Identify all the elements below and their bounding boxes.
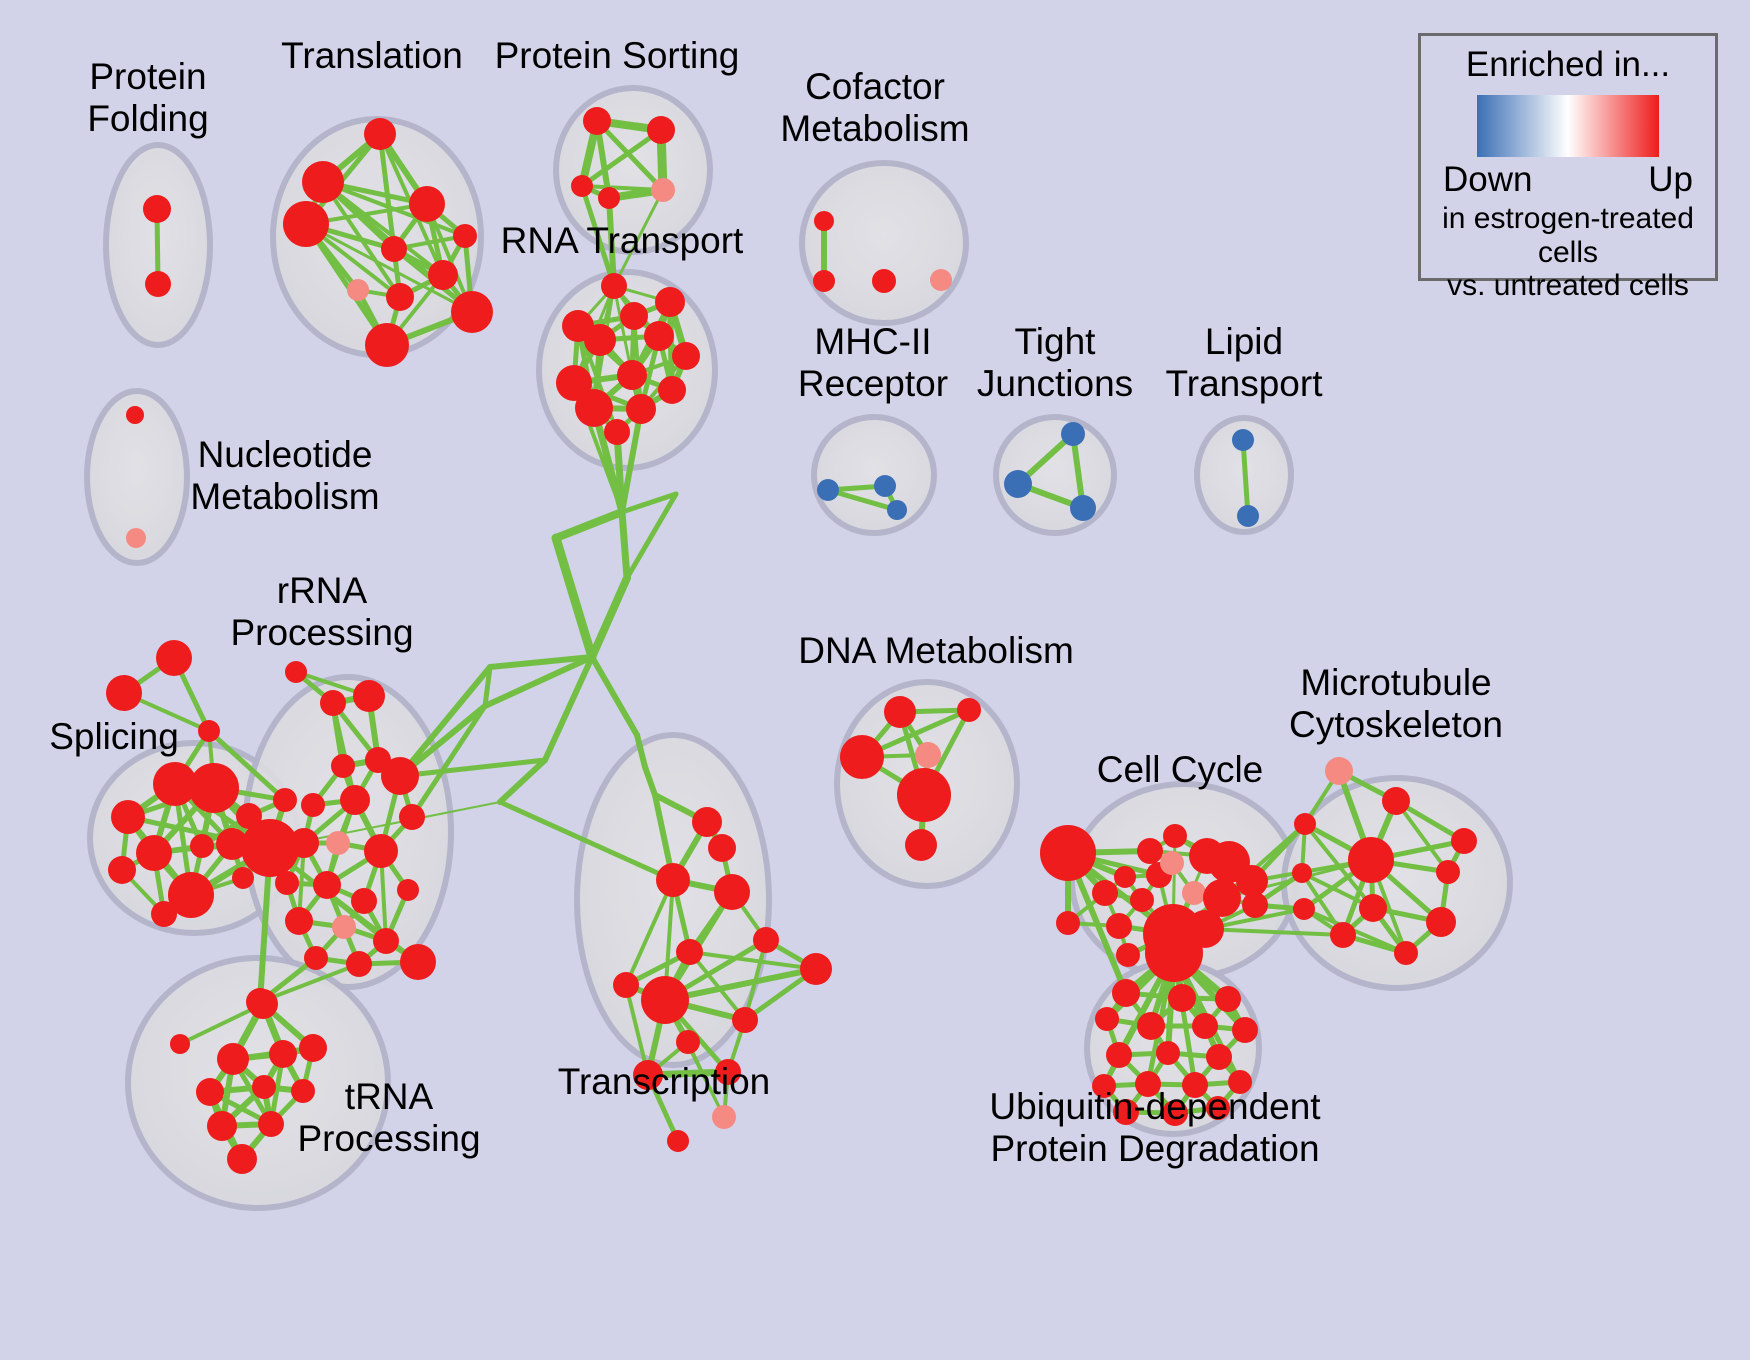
node-splicing-10[interactable] — [108, 856, 136, 884]
node-rrna-processing-20[interactable] — [346, 951, 372, 977]
cluster-label-nucleotide-metabolism: Nucleotide — [198, 434, 373, 475]
node-translation-1[interactable] — [302, 161, 344, 203]
node-translation-9[interactable] — [451, 291, 493, 333]
legend-sublabel-line2: vs. untreated cells — [1421, 269, 1715, 303]
legend-high-label: Up — [1648, 160, 1693, 200]
node-transcription-3[interactable] — [714, 874, 750, 910]
node-ubiquitin-degradation-9[interactable] — [1156, 1041, 1180, 1065]
legend-sublabel: in estrogen-treated cells vs. untreated … — [1421, 202, 1715, 303]
node-translation-4[interactable] — [453, 224, 477, 248]
node-transcription-6[interactable] — [800, 953, 832, 985]
cluster-label-microtubule-cytoskeleton: Microtubule — [1300, 662, 1491, 703]
node-rrna-processing-9[interactable] — [289, 828, 319, 858]
node-rna-transport-5[interactable] — [644, 321, 674, 351]
node-trna-processing-7[interactable] — [291, 1079, 315, 1103]
legend-color-gradient — [1477, 95, 1659, 157]
node-rrna-processing-0[interactable] — [285, 661, 307, 683]
cluster-label-mhc-ii-receptor: Receptor — [798, 363, 948, 404]
inter-cluster-edge — [592, 578, 627, 657]
node-splicing-11[interactable] — [151, 901, 177, 927]
node-splicing-0[interactable] — [156, 640, 192, 676]
node-splicing-14[interactable] — [273, 788, 297, 812]
inter-cluster-edge — [556, 512, 622, 538]
node-cell-cycle-7[interactable] — [1160, 851, 1184, 875]
node-transcription-4[interactable] — [753, 927, 779, 953]
node-trna-processing-4[interactable] — [299, 1034, 327, 1062]
node-microtubule-cytoskeleton-8[interactable] — [1293, 898, 1315, 920]
node-transcription-8[interactable] — [613, 972, 639, 998]
node-microtubule-cytoskeleton-10[interactable] — [1426, 907, 1456, 937]
node-translation-5[interactable] — [381, 236, 407, 262]
node-transcription-7[interactable] — [676, 940, 700, 964]
node-dna-metabolism-5[interactable] — [905, 829, 937, 861]
node-splicing-9[interactable] — [190, 834, 214, 858]
node-rna-transport-9[interactable] — [658, 376, 686, 404]
node-translation-8[interactable] — [386, 283, 414, 311]
node-dna-metabolism-4[interactable] — [897, 768, 951, 822]
node-protein-sorting-1[interactable] — [647, 116, 675, 144]
node-protein-folding-1[interactable] — [145, 271, 171, 297]
node-microtubule-cytoskeleton-7[interactable] — [1451, 828, 1477, 854]
node-cell-cycle-2[interactable] — [1040, 825, 1096, 881]
node-ubiquitin-degradation-2[interactable] — [1168, 984, 1196, 1012]
node-rrna-processing-19[interactable] — [304, 946, 328, 970]
node-rrna-processing-4[interactable] — [331, 754, 355, 778]
node-microtubule-cytoskeleton-11[interactable] — [1394, 941, 1418, 965]
node-rna-transport-6[interactable] — [672, 342, 700, 370]
node-cell-cycle-13[interactable] — [1242, 892, 1268, 918]
node-dna-metabolism-2[interactable] — [840, 735, 884, 779]
node-translation-0[interactable] — [364, 118, 396, 150]
node-cell-cycle-15[interactable] — [1106, 913, 1132, 939]
node-microtubule-cytoskeleton-3[interactable] — [1348, 837, 1394, 883]
node-rrna-processing-5[interactable] — [381, 757, 419, 795]
inter-cluster-edge — [622, 512, 627, 578]
node-ubiquitin-degradation-5[interactable] — [1137, 1012, 1165, 1040]
cluster-label-mhc-ii-receptor: MHC-II — [814, 321, 931, 362]
node-splicing-4[interactable] — [189, 763, 239, 813]
node-splicing-7[interactable] — [136, 835, 172, 871]
cluster-label-dna-metabolism: DNA Metabolism — [798, 630, 1074, 671]
cluster-label-lipid-transport: Lipid — [1205, 321, 1283, 362]
cluster-label-rna-transport: RNA Transport — [501, 220, 744, 261]
node-mhc-ii-receptor-0[interactable] — [874, 475, 896, 497]
node-cell-cycle-5[interactable] — [1114, 866, 1136, 888]
legend-panel: Enriched in... Down Up in estrogen-treat… — [1418, 33, 1718, 281]
node-translation-7[interactable] — [347, 279, 369, 301]
cluster-label-protein-folding: Folding — [87, 98, 208, 139]
node-ubiquitin-degradation-8[interactable] — [1106, 1042, 1132, 1068]
node-dna-metabolism-0[interactable] — [884, 696, 916, 728]
cluster-label-trna-processing: Processing — [297, 1118, 480, 1159]
cluster-ellipse-mhc-ii-receptor — [814, 417, 934, 533]
legend-sublabel-line1: in estrogen-treated cells — [1421, 202, 1715, 269]
node-rna-transport-0[interactable] — [601, 273, 627, 299]
node-rna-transport-8[interactable] — [617, 360, 647, 390]
node-rna-transport-11[interactable] — [626, 394, 656, 424]
node-microtubule-cytoskeleton-1[interactable] — [1382, 787, 1410, 815]
node-transcription-2[interactable] — [656, 863, 690, 897]
cluster-label-cofactor-metabolism: Cofactor — [805, 66, 945, 107]
cluster-label-translation: Translation — [281, 35, 463, 76]
node-mhc-ii-receptor-1[interactable] — [817, 479, 839, 501]
node-rrna-processing-11[interactable] — [364, 834, 398, 868]
node-microtubule-cytoskeleton-9[interactable] — [1330, 922, 1356, 948]
node-cell-cycle-9[interactable] — [1092, 880, 1118, 906]
node-splicing-5[interactable] — [111, 800, 145, 834]
node-translation-3[interactable] — [283, 201, 329, 247]
node-trna-processing-3[interactable] — [269, 1040, 297, 1068]
cluster-label-ubiquitin-degradation: Ubiquitin-dependent — [989, 1086, 1321, 1127]
node-cofactor-metabolism-0[interactable] — [814, 211, 834, 231]
cluster-label-microtubule-cytoskeleton: Cytoskeleton — [1289, 704, 1503, 745]
node-rrna-processing-6[interactable] — [301, 793, 325, 817]
cluster-label-splicing: Splicing — [49, 716, 179, 757]
node-cell-cycle-0[interactable] — [1137, 838, 1163, 864]
network-figure: ProteinFoldingNucleotideMetabolismTransl… — [0, 0, 1750, 1360]
node-rrna-processing-8[interactable] — [399, 804, 425, 830]
node-rrna-processing-17[interactable] — [332, 915, 356, 939]
node-rrna-processing-13[interactable] — [313, 871, 341, 899]
node-rna-transport-10[interactable] — [575, 389, 613, 427]
node-rrna-processing-2[interactable] — [320, 690, 346, 716]
node-dna-metabolism-3[interactable] — [915, 742, 941, 768]
node-rrna-processing-21[interactable] — [400, 944, 436, 980]
node-rrna-processing-16[interactable] — [285, 907, 313, 935]
node-trna-processing-2[interactable] — [217, 1043, 249, 1075]
node-microtubule-cytoskeleton-2[interactable] — [1294, 813, 1316, 835]
node-tight-junctions-1[interactable] — [1004, 470, 1032, 498]
node-nucleotide-metabolism-1[interactable] — [126, 528, 146, 548]
node-trna-processing-6[interactable] — [252, 1075, 276, 1099]
node-trna-processing-1[interactable] — [170, 1034, 190, 1054]
node-cofactor-metabolism-2[interactable] — [872, 269, 896, 293]
node-ubiquitin-degradation-4[interactable] — [1095, 1007, 1119, 1031]
node-protein-folding-0[interactable] — [143, 195, 171, 223]
node-protein-sorting-3[interactable] — [598, 187, 620, 209]
node-cell-cycle-14[interactable] — [1056, 911, 1080, 935]
node-nucleotide-metabolism-0[interactable] — [126, 406, 144, 424]
node-translation-10[interactable] — [365, 323, 409, 367]
cluster-label-nucleotide-metabolism: Metabolism — [190, 476, 379, 517]
cluster-label-trna-processing: tRNA — [345, 1076, 434, 1117]
node-cell-cycle-11[interactable] — [1182, 881, 1206, 905]
node-rrna-processing-18[interactable] — [373, 928, 399, 954]
node-cell-cycle-18[interactable] — [1116, 943, 1140, 967]
node-transcription-0[interactable] — [692, 807, 722, 837]
node-tight-junctions-2[interactable] — [1070, 495, 1096, 521]
node-translation-6[interactable] — [428, 260, 458, 290]
node-ubiquitin-degradation-0[interactable] — [1145, 924, 1203, 982]
node-ubiquitin-degradation-1[interactable] — [1112, 979, 1140, 1007]
node-transcription-15[interactable] — [667, 1130, 689, 1152]
node-splicing-2[interactable] — [198, 720, 220, 742]
legend-low-label: Down — [1443, 160, 1532, 200]
node-transcription-10[interactable] — [732, 1007, 758, 1033]
node-lipid-transport-1[interactable] — [1237, 505, 1259, 527]
node-trna-processing-0[interactable] — [248, 989, 278, 1019]
node-rrna-processing-12[interactable] — [275, 871, 299, 895]
node-ubiquitin-degradation-7[interactable] — [1232, 1017, 1258, 1043]
legend-title: Enriched in... — [1421, 45, 1715, 85]
cluster-label-cofactor-metabolism: Metabolism — [780, 108, 969, 149]
node-ubiquitin-degradation-6[interactable] — [1192, 1013, 1218, 1039]
node-rna-transport-1[interactable] — [655, 287, 685, 317]
cluster-label-cell-cycle: Cell Cycle — [1097, 749, 1264, 790]
node-splicing-13[interactable] — [232, 867, 254, 889]
node-microtubule-cytoskeleton-0[interactable] — [1325, 757, 1353, 785]
node-cofactor-metabolism-1[interactable] — [813, 270, 835, 292]
node-lipid-transport-0[interactable] — [1232, 429, 1254, 451]
node-ubiquitin-degradation-3[interactable] — [1215, 986, 1241, 1012]
node-cell-cycle-8[interactable] — [1236, 865, 1268, 897]
node-mhc-ii-receptor-2[interactable] — [887, 500, 907, 520]
node-trna-processing-8[interactable] — [207, 1111, 237, 1141]
node-transcription-14[interactable] — [712, 1105, 736, 1129]
node-cofactor-metabolism-3[interactable] — [930, 269, 952, 291]
inter-cluster-edge — [592, 657, 637, 735]
node-rrna-processing-14[interactable] — [351, 888, 377, 914]
node-rna-transport-4[interactable] — [584, 324, 616, 356]
node-rrna-processing-10[interactable] — [326, 831, 350, 855]
node-protein-sorting-2[interactable] — [571, 175, 593, 197]
cluster-label-protein-folding: Protein — [89, 56, 206, 97]
cluster-label-tight-junctions: Tight — [1015, 321, 1097, 362]
node-splicing-1[interactable] — [106, 675, 142, 711]
node-protein-sorting-0[interactable] — [583, 107, 611, 135]
node-dna-metabolism-1[interactable] — [957, 698, 981, 722]
node-microtubule-cytoskeleton-5[interactable] — [1292, 863, 1312, 883]
legend-endpoints: Down Up — [1421, 160, 1715, 200]
node-trna-processing-5[interactable] — [196, 1078, 224, 1106]
node-protein-sorting-4[interactable] — [651, 178, 675, 202]
cluster-label-ubiquitin-degradation: Protein Degradation — [990, 1128, 1319, 1169]
node-transcription-9[interactable] — [641, 976, 689, 1024]
node-cell-cycle-1[interactable] — [1163, 824, 1187, 848]
node-transcription-1[interactable] — [708, 834, 736, 862]
node-trna-processing-10[interactable] — [227, 1144, 257, 1174]
node-rna-transport-3[interactable] — [620, 302, 648, 330]
node-translation-2[interactable] — [409, 186, 445, 222]
cluster-label-tight-junctions: Junctions — [977, 363, 1133, 404]
node-tight-junctions-0[interactable] — [1061, 422, 1085, 446]
node-ubiquitin-degradation-10[interactable] — [1206, 1044, 1232, 1070]
node-rna-transport-12[interactable] — [604, 419, 630, 445]
cluster-label-protein-sorting: Protein Sorting — [495, 35, 740, 76]
node-microtubule-cytoskeleton-4[interactable] — [1436, 860, 1460, 884]
node-rrna-processing-15[interactable] — [397, 879, 419, 901]
node-transcription-11[interactable] — [676, 1030, 700, 1054]
cluster-label-lipid-transport: Transport — [1166, 363, 1324, 404]
node-rrna-processing-7[interactable] — [340, 785, 370, 815]
inter-cluster-edge — [556, 538, 592, 657]
node-cell-cycle-10[interactable] — [1130, 888, 1154, 912]
cluster-label-transcription: Transcription — [558, 1061, 770, 1102]
cluster-label-rrna-processing: rRNA — [277, 570, 368, 611]
node-trna-processing-9[interactable] — [258, 1111, 284, 1137]
node-microtubule-cytoskeleton-6[interactable] — [1359, 894, 1387, 922]
cluster-label-rrna-processing: Processing — [230, 612, 413, 653]
node-rrna-processing-1[interactable] — [353, 680, 385, 712]
